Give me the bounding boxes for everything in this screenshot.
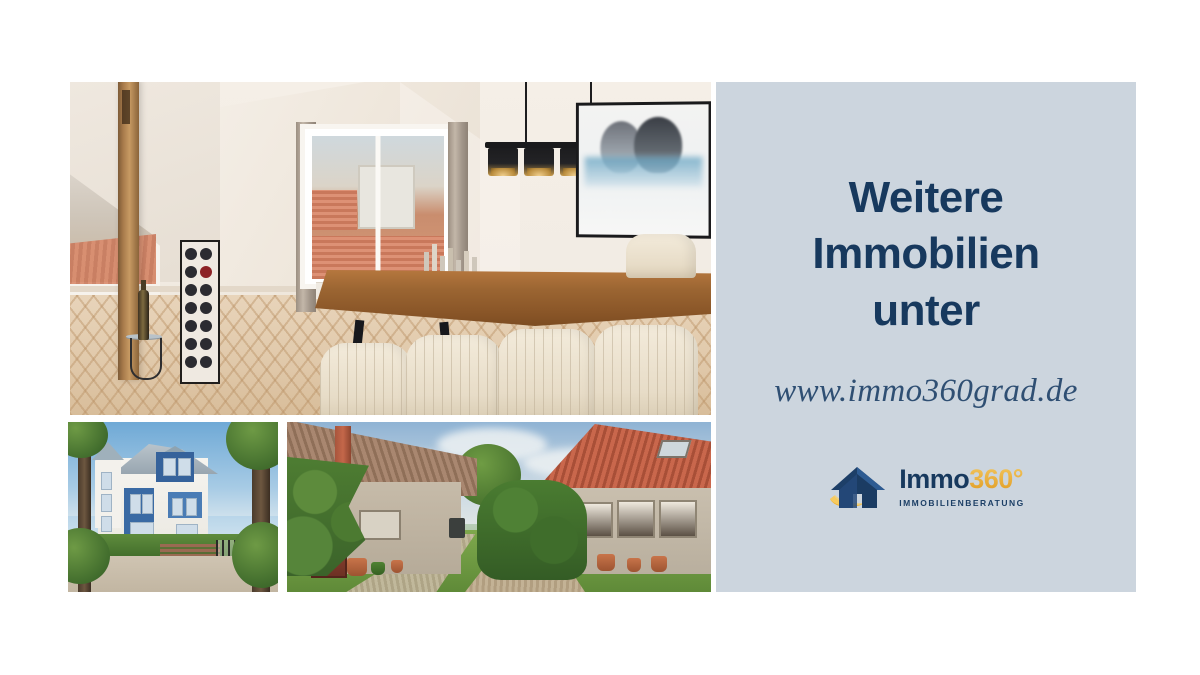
villa-window-8 <box>172 498 183 516</box>
website-url[interactable]: www.immo360grad.de <box>774 373 1078 410</box>
villa-window-9 <box>186 498 197 516</box>
dining-chair-4 <box>594 325 698 415</box>
dining-chair-1 <box>320 343 412 415</box>
villa-window-5 <box>142 494 153 514</box>
pendant-rod-left <box>525 82 527 144</box>
window-mullion <box>376 136 381 279</box>
dining-chair-3 <box>498 329 596 415</box>
flower-pot-2 <box>371 562 385 575</box>
dining-chair-2 <box>406 335 502 415</box>
villa-window-7 <box>178 458 191 476</box>
headline-line-1: Weitere <box>812 170 1039 226</box>
roof-skylight <box>656 440 691 458</box>
attic-dining-room-photo <box>70 82 711 415</box>
logo-word-primary: Immo <box>899 464 969 494</box>
neighbour-house-window <box>358 165 415 229</box>
headline-line-2: Immobilien <box>812 226 1039 282</box>
logo-text-block: Immo360° IMMOBILIENBERATUNG <box>899 466 1025 508</box>
champagne-bottle <box>138 290 149 340</box>
dining-chair-far <box>626 234 696 278</box>
logo-subtitle: IMMOBILIENBERATUNG <box>899 498 1025 508</box>
page-title: Weitere Immobilien unter <box>812 170 1039 339</box>
villa-window-6 <box>163 458 176 476</box>
hedge-right <box>477 480 587 580</box>
artwork-blue-wash <box>585 157 703 187</box>
wine-rack <box>180 240 220 384</box>
headline-line-3: unter <box>812 283 1039 339</box>
rural-courtyard-photo <box>287 422 711 592</box>
house-roof-with-swoosh-icon <box>827 464 887 510</box>
info-panel: Weitere Immobilien unter www.immo360grad… <box>716 82 1136 592</box>
neighbour-roof-upper <box>312 190 357 230</box>
flower-pot-4 <box>597 554 615 571</box>
framed-artwork <box>576 101 711 239</box>
house-window-2 <box>617 500 655 538</box>
waste-bin <box>449 518 465 538</box>
side-table-legs <box>130 338 162 380</box>
villa-window-4 <box>130 494 141 514</box>
logo-wordmark: Immo360° <box>899 466 1023 493</box>
villa-tree-left <box>68 422 106 592</box>
house-window-1 <box>659 500 697 538</box>
brand-logo[interactable]: Immo360° IMMOBILIENBERATUNG <box>827 464 1025 510</box>
cottage-window-left <box>359 510 401 540</box>
white-villa-exterior-photo <box>68 422 278 592</box>
flower-pot-1 <box>347 558 367 576</box>
lamp-shade-2 <box>524 148 554 176</box>
lamp-shade-1 <box>488 148 518 176</box>
advertisement-canvas: Weitere Immobilien unter www.immo360grad… <box>0 0 1200 675</box>
flower-pot-3 <box>391 560 403 573</box>
beam-notch <box>122 90 130 124</box>
flower-pot-5 <box>627 558 641 572</box>
villa-tree-right <box>230 422 278 592</box>
logo-word-accent: 360° <box>969 464 1023 494</box>
flower-pot-6 <box>651 556 667 572</box>
